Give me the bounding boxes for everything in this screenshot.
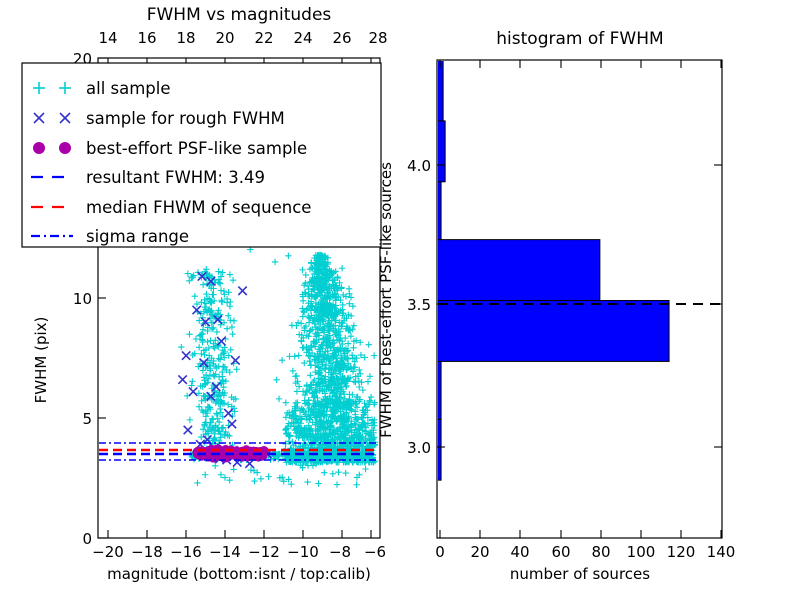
x-tick-label: 120 (667, 543, 696, 561)
bottom-tick-label: −10 (287, 543, 319, 561)
left-panel-ylabel: FWHM (pix) (32, 317, 50, 404)
bottom-tick-label: −20 (92, 543, 124, 561)
legend-label: sigma range (86, 227, 189, 246)
top-tick-label: 16 (137, 29, 156, 47)
left-panel-title: FWHM vs magnitudes (147, 5, 332, 25)
histogram-bar (437, 361, 441, 419)
x-tick-label: 100 (627, 543, 656, 561)
top-tick-label: 18 (176, 29, 195, 47)
right-panel-x-tick-labels: 0 20 40 60 80 100 120 140 (435, 543, 735, 561)
plot-svg: FWHM vs magnitudes 14 16 18 20 22 24 26 … (0, 0, 800, 600)
x-tick-label: 0 (435, 543, 445, 561)
histogram-bar (437, 182, 441, 240)
right-panel-ylabel: FWHM of best-effort PSF-like sources (377, 162, 395, 438)
bottom-tick-label: −12 (248, 543, 280, 561)
y-tick-label: 4.0 (407, 157, 431, 175)
legend[interactable]: all sample sample for rough FWHM best-ef… (22, 63, 381, 247)
right-panel-title: histogram of FWHM (496, 29, 663, 49)
bottom-tick-label: −16 (170, 543, 202, 561)
histogram-bar (437, 60, 443, 121)
x-tick-label: 20 (470, 543, 489, 561)
top-tick-label: 22 (254, 29, 273, 47)
legend-label: sample for rough FWHM (86, 109, 285, 128)
bottom-tick-label: −14 (209, 543, 241, 561)
x-tick-label: 140 (707, 543, 736, 561)
top-tick-label: 28 (368, 29, 387, 47)
figure-canvas: FWHM vs magnitudes 14 16 18 20 22 24 26 … (0, 0, 800, 600)
y-tick-label: 0 (82, 530, 92, 548)
x-tick-label: 60 (551, 543, 570, 561)
right-panel: histogram of FWHM (377, 29, 735, 583)
left-panel-top-tick-labels: 14 16 18 20 22 24 26 28 (98, 29, 387, 47)
y-tick-label: 3.0 (407, 439, 431, 457)
legend-label: resultant FWHM: 3.49 (86, 168, 265, 187)
y-tick-label: 5 (82, 410, 92, 428)
bottom-tick-label: −18 (131, 543, 163, 561)
y-tick-label: 3.5 (407, 296, 431, 314)
left-panel-xlabel: magnitude (bottom:isnt / top:calib) (107, 565, 371, 583)
x-tick-label: 80 (591, 543, 610, 561)
legend-label: best-effort PSF-like sample (86, 139, 307, 158)
histogram-bar (437, 121, 445, 182)
top-tick-label: 26 (332, 29, 351, 47)
bottom-tick-label: −8 (329, 543, 351, 561)
histogram-bars (437, 60, 669, 480)
left-panel-bottom-tick-labels: −20 −18 −16 −14 −12 −10 −8 −6 (92, 543, 386, 561)
top-tick-label: 24 (293, 29, 312, 47)
bottom-tick-label: −6 (364, 543, 386, 561)
x-tick-label: 40 (510, 543, 529, 561)
top-tick-label: 20 (215, 29, 234, 47)
histogram-bar (437, 419, 441, 480)
top-tick-label: 14 (98, 29, 117, 47)
y-tick-label: 10 (73, 290, 92, 308)
left-bottom-ticks (108, 530, 371, 538)
right-panel-y-tick-labels: 3.0 3.5 4.0 (407, 157, 431, 457)
histogram-bar (437, 240, 600, 301)
legend-label: median FHWM of sequence (86, 198, 311, 217)
histogram-bar (437, 301, 669, 362)
legend-label: all sample (86, 79, 171, 98)
right-panel-xlabel: number of sources (510, 565, 650, 583)
